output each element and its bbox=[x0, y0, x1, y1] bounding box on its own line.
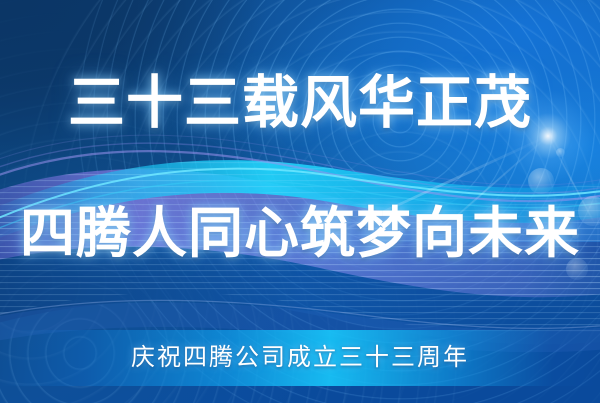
headline-line1-row: 三十三载风华正茂 bbox=[0, 72, 600, 134]
subtitle-row: 庆祝四腾公司成立三十三周年 bbox=[0, 336, 600, 380]
anniversary-banner: 三十三载风华正茂 四腾人同心筑梦向未来 庆祝四腾公司成立三十三周年 bbox=[0, 0, 600, 403]
headline-line2: 四腾人同心筑梦向未来 bbox=[20, 203, 580, 263]
headline-line1: 三十三载风华正茂 bbox=[68, 72, 532, 134]
subtitle-text: 庆祝四腾公司成立三十三周年 bbox=[131, 336, 469, 380]
headline-line2-row: 四腾人同心筑梦向未来 bbox=[0, 203, 600, 263]
bokeh-circle-1 bbox=[528, 168, 554, 194]
bokeh-circle-4 bbox=[556, 148, 565, 157]
